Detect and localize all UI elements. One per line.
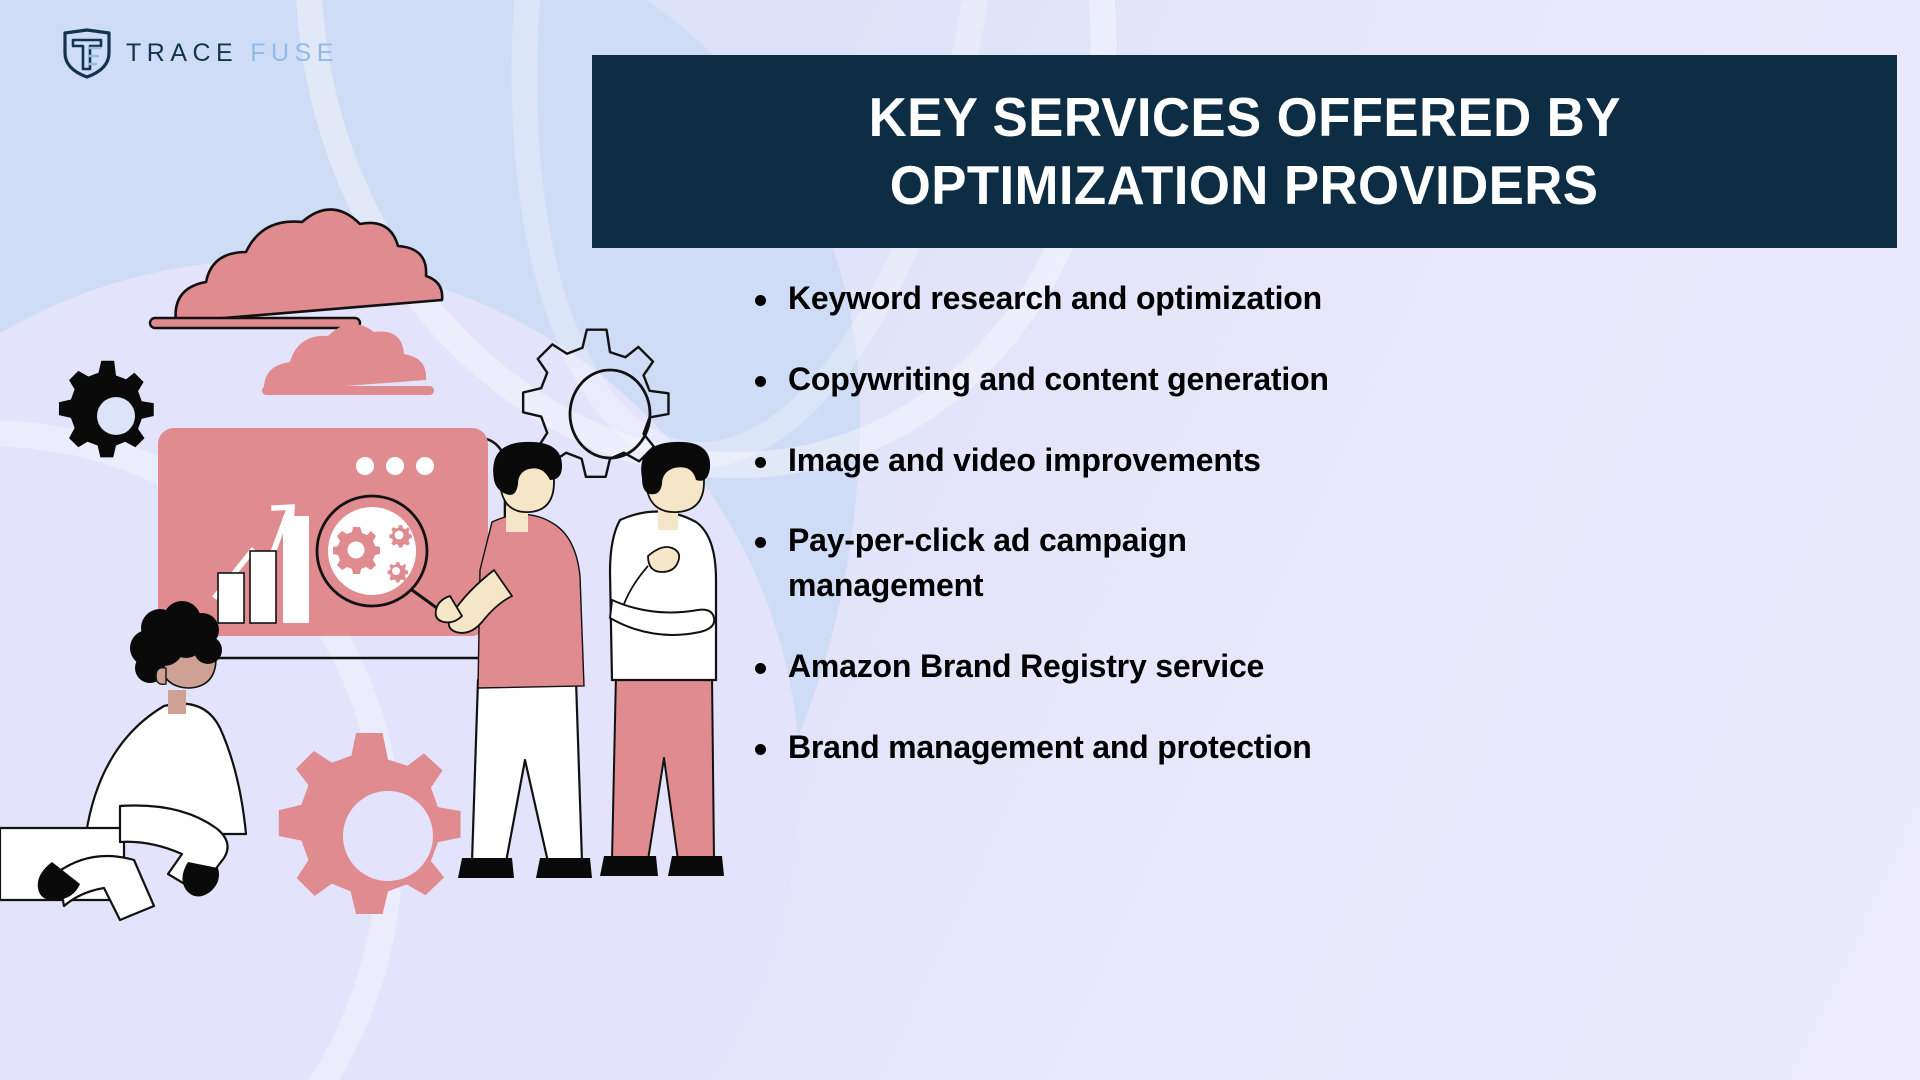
list-item: Image and video improvements xyxy=(755,438,1865,483)
page-title-line2: OPTIMIZATION PROVIDERS xyxy=(890,152,1599,219)
services-list: Keyword research and optimization Copywr… xyxy=(755,276,1865,806)
bullet-dot-icon xyxy=(755,663,766,674)
logo-text-trace: TRACE xyxy=(126,39,238,68)
window-dot-2 xyxy=(386,457,404,475)
page-title-line1: KEY SERVICES OFFERED BY xyxy=(868,84,1620,151)
list-item: Copywriting and content generation xyxy=(755,357,1865,402)
logo-text-fuse: FUSE xyxy=(250,39,339,68)
person-seated-icon xyxy=(0,601,246,920)
list-item-label: Image and video improvements xyxy=(788,438,1261,483)
gear-black-icon xyxy=(59,361,154,458)
list-item-label: Keyword research and optimization xyxy=(788,276,1322,321)
list-item-label: Brand management and protection xyxy=(788,725,1312,770)
cloud-small-icon xyxy=(262,324,434,395)
bullet-dot-icon xyxy=(755,537,766,548)
list-item: Brand management and protection xyxy=(755,725,1865,770)
bullet-dot-icon xyxy=(755,376,766,387)
brand-logo[interactable]: TRACE FUSE xyxy=(62,27,339,79)
header-banner: KEY SERVICES OFFERED BY OPTIMIZATION PRO… xyxy=(592,55,1897,248)
cloud-large-icon xyxy=(150,209,442,328)
list-item: Amazon Brand Registry service xyxy=(755,644,1865,689)
shield-tf-monogram-icon xyxy=(62,27,112,79)
gear-pink-icon xyxy=(279,733,461,914)
bullet-dot-icon xyxy=(755,295,766,306)
bullet-dot-icon xyxy=(755,744,766,755)
infographic-canvas: TRACE FUSE KEY SERVICES OFFERED BY OPTIM… xyxy=(0,0,1920,1080)
list-item: Keyword research and optimization xyxy=(755,276,1865,321)
list-item: Pay-per-click ad campaign management xyxy=(755,518,1865,608)
list-item-label: Copywriting and content generation xyxy=(788,357,1329,402)
window-dot-3 xyxy=(416,457,434,475)
bullet-dot-icon xyxy=(755,457,766,468)
list-item-label: Amazon Brand Registry service xyxy=(788,644,1264,689)
list-item-label: Pay-per-click ad campaign management xyxy=(788,518,1348,608)
person-thinking-icon xyxy=(600,442,724,876)
window-dot-1 xyxy=(356,457,374,475)
